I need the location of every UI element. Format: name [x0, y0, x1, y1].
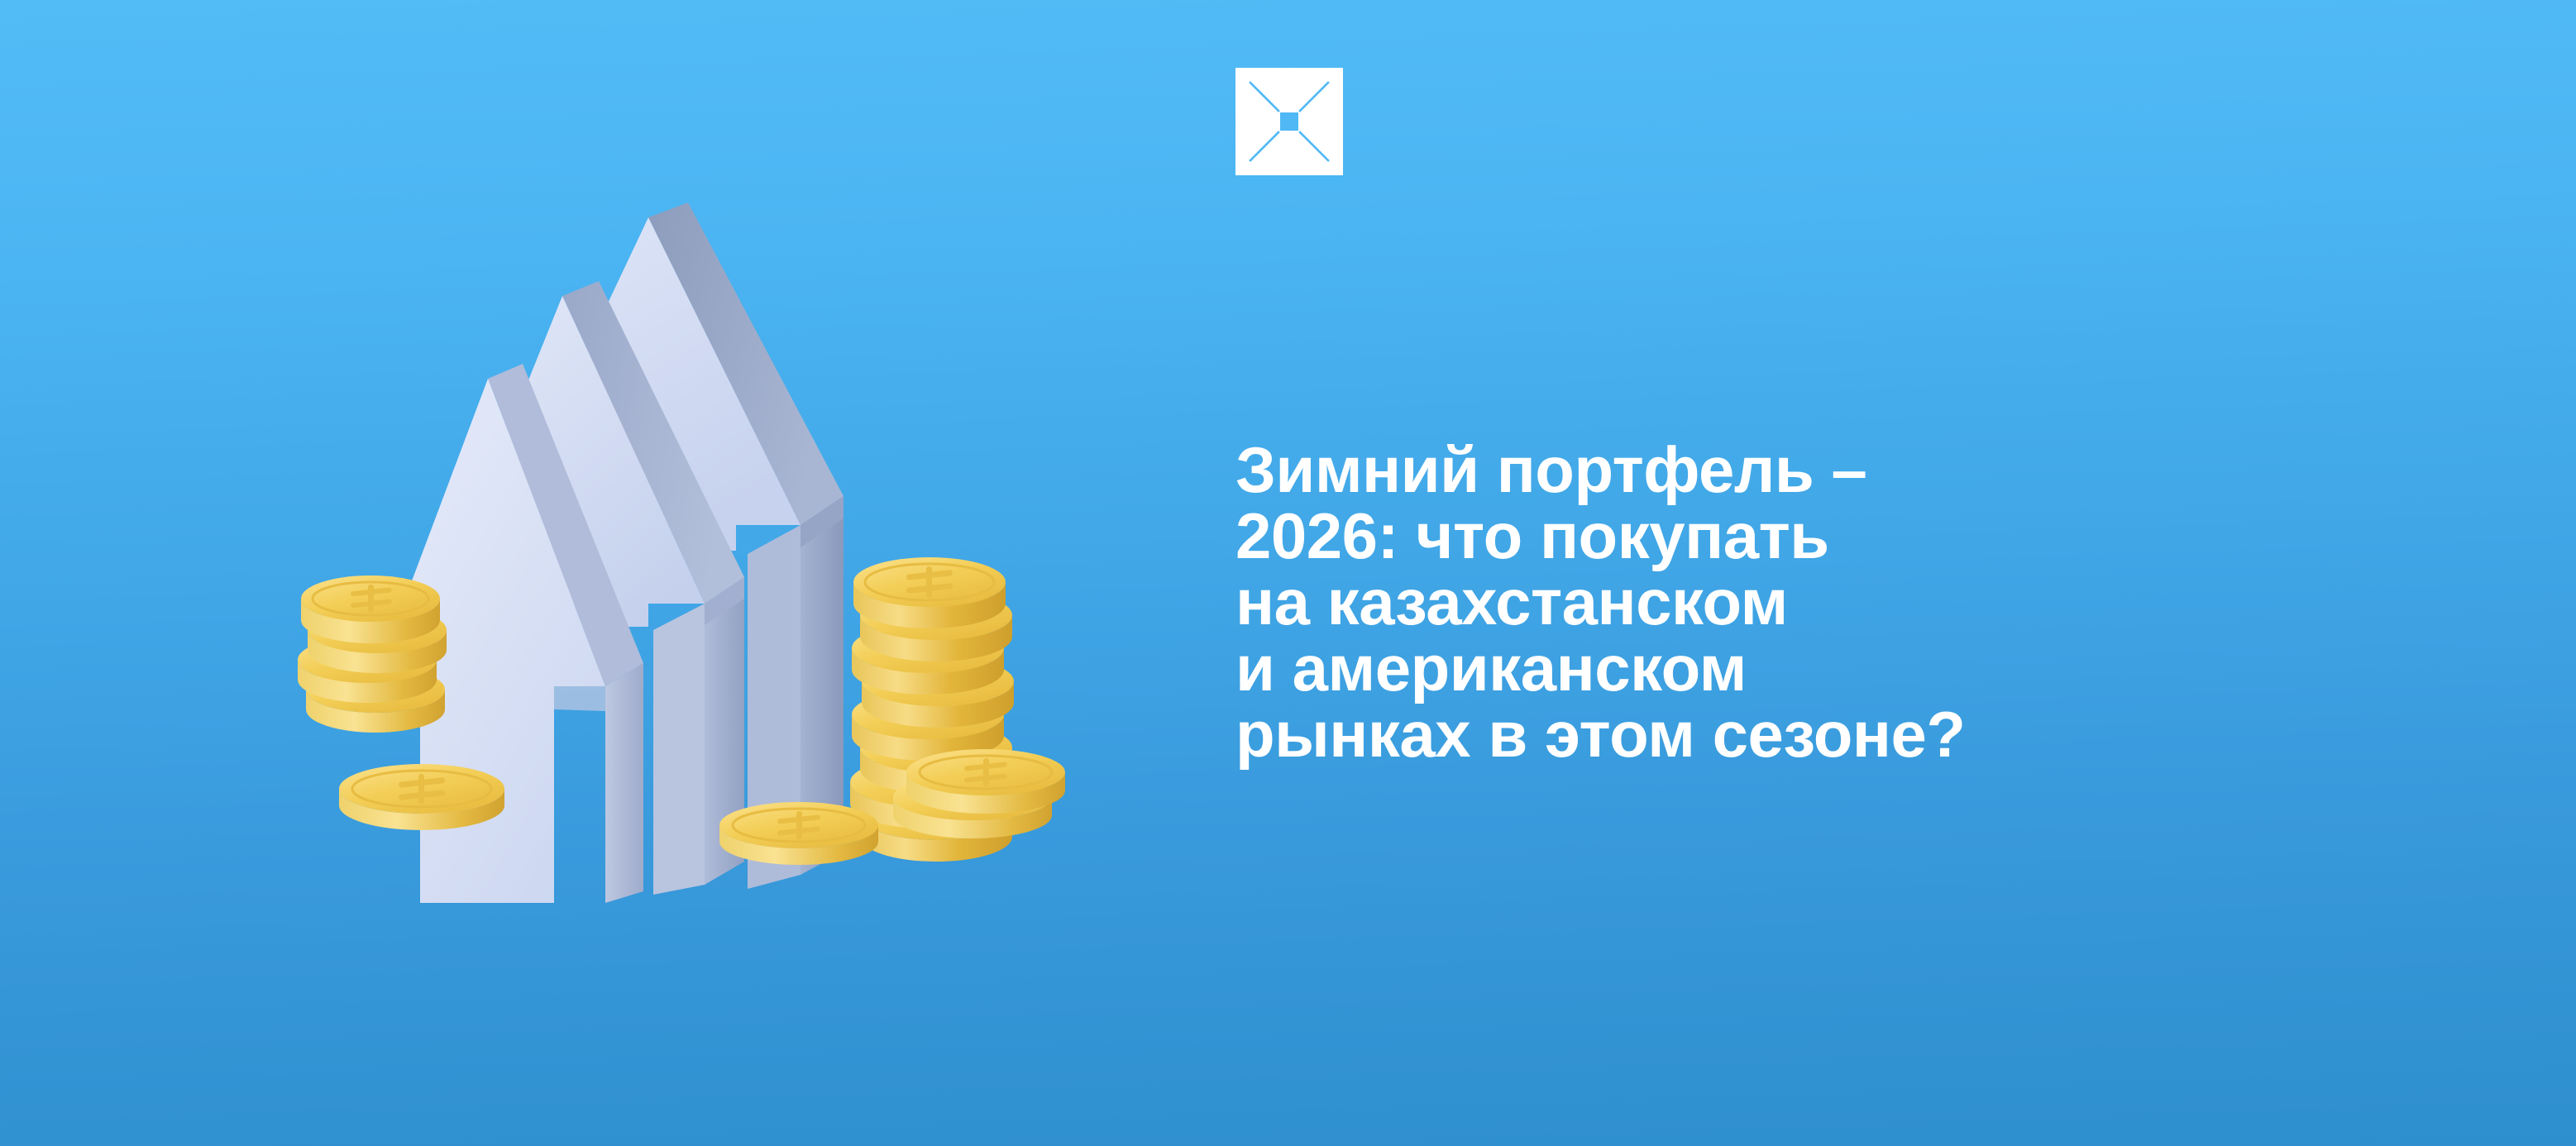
bottom-center-flat-coin — [719, 802, 878, 865]
banner-canvas: Зимний портфель – 2026: что покупать на … — [0, 0, 2576, 1146]
left-coin-stack — [298, 575, 447, 733]
brand-logo[interactable] — [1235, 68, 1343, 175]
headline-line-5: рынках в этом сезоне? — [1235, 701, 2393, 767]
hero-illustration — [314, 190, 1158, 901]
logo-center-square — [1280, 112, 1298, 131]
headline-line-3: на казахстанском — [1235, 569, 2393, 635]
headline-line-2: 2026: что покупать — [1235, 503, 2393, 569]
headline-line-1: Зимний портфель – — [1235, 437, 2393, 503]
bottom-right-flat-coins — [893, 749, 1065, 838]
bottom-left-flat-coin — [339, 764, 504, 830]
headline: Зимний портфель – 2026: что покупать на … — [1235, 437, 2393, 767]
headline-line-4: и американском — [1235, 635, 2393, 701]
